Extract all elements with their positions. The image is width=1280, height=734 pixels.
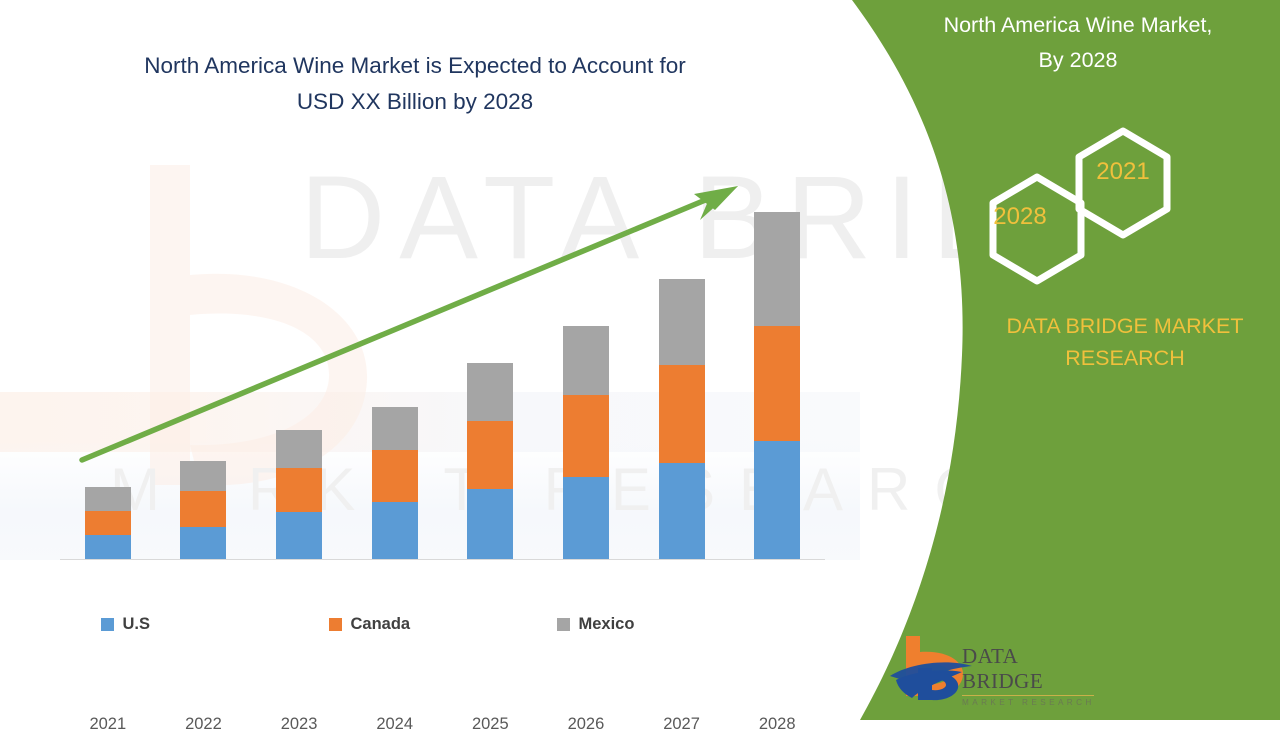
logo-divider: [962, 695, 1094, 696]
brand-line2: RESEARCH: [960, 342, 1280, 374]
panel-title-line1: North America Wine Market,: [900, 8, 1256, 43]
brand-name: DATA BRIDGE MARKET RESEARCH: [960, 310, 1280, 374]
hexagon-group: 2028 2021: [975, 125, 1195, 285]
slide-canvas: DATA BRIDGE MARKET RESEARCH North Americ…: [0, 0, 1280, 720]
logo-name: DATA BRIDGE: [962, 644, 1102, 694]
logo-text: DATA BRIDGE MARKET RESEARCH: [962, 644, 1102, 707]
panel-title-line2: By 2028: [900, 43, 1256, 78]
panel-title: North America Wine Market, By 2028: [900, 8, 1256, 78]
hexagon-label-2021: 2021: [1068, 158, 1178, 186]
logo-tagline: MARKET RESEARCH: [962, 698, 1102, 707]
hexagon-label-2028: 2028: [965, 203, 1075, 231]
brand-line1: DATA BRIDGE MARKET: [960, 310, 1280, 342]
